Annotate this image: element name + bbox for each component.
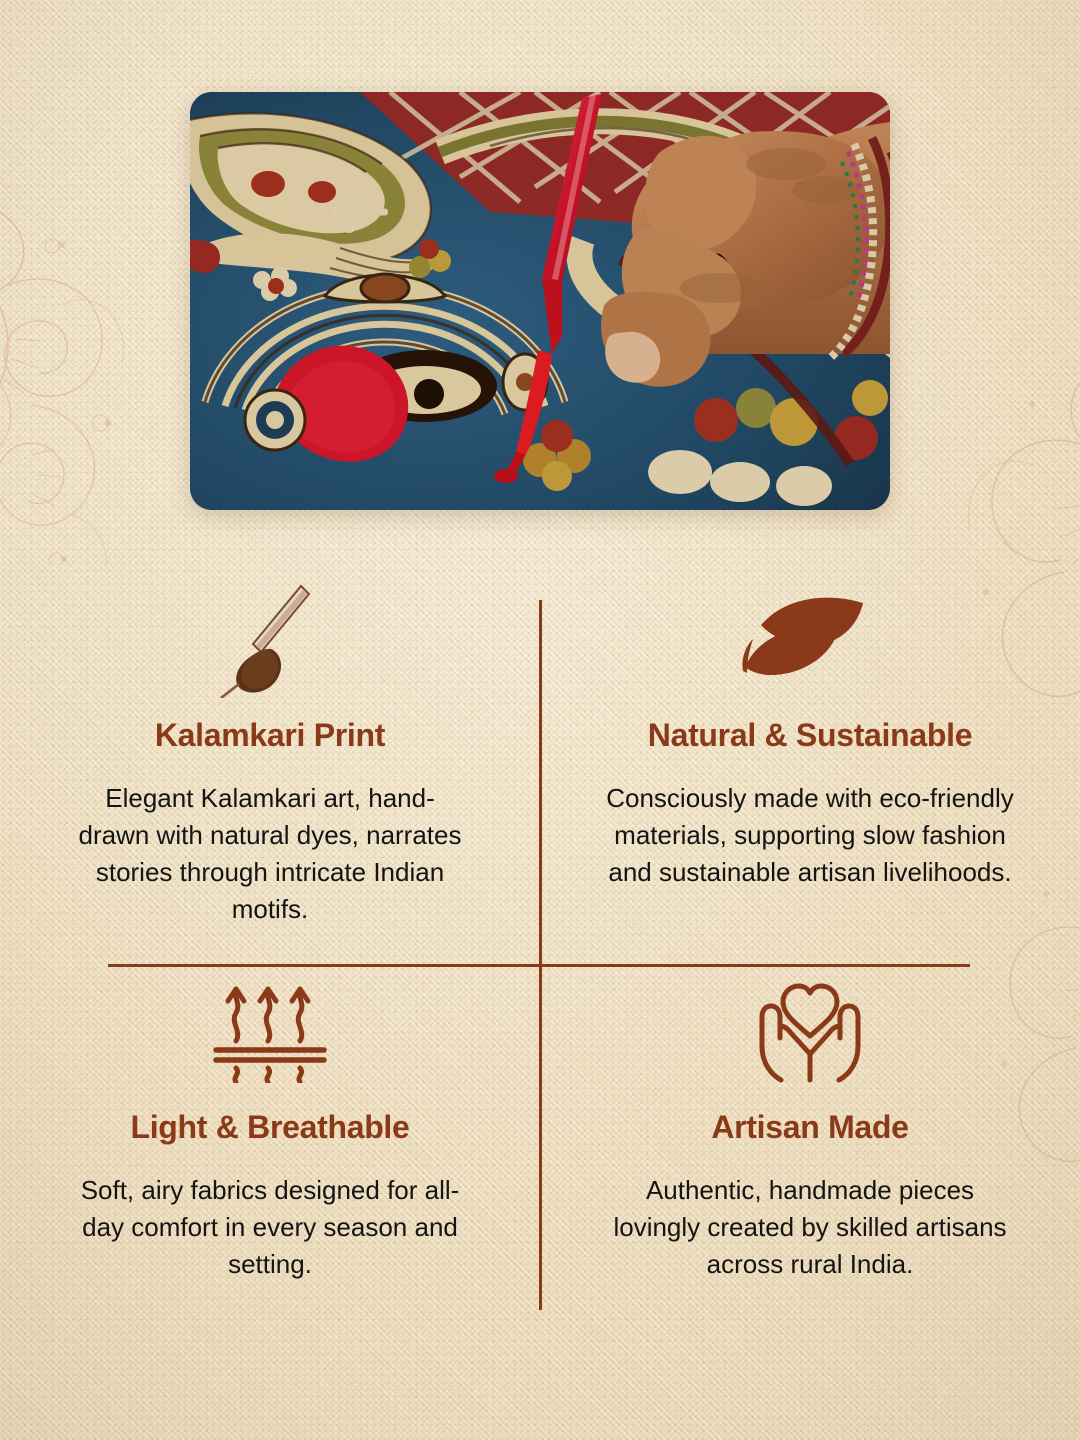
breathable-fabric-icon — [210, 975, 330, 1085]
kalamkari-artisan-photo — [190, 92, 890, 510]
feature-card-natural-sustainable: Natural & Sustainable Consciously made w… — [540, 575, 1080, 965]
leaf-icon — [735, 579, 885, 699]
feature-title: Artisan Made — [711, 1109, 908, 1146]
feature-card-artisan-made: Artisan Made Authentic, handmade pieces … — [540, 965, 1080, 1335]
feature-card-kalamkari-print: Kalamkari Print Elegant Kalamkari art, h… — [0, 575, 540, 965]
feature-body: Soft, airy fabrics designed for all-day … — [74, 1172, 466, 1283]
kalam-pen-icon — [215, 579, 325, 699]
feature-title: Kalamkari Print — [155, 717, 385, 754]
feature-title: Natural & Sustainable — [648, 717, 972, 754]
feature-title: Light & Breathable — [130, 1109, 409, 1146]
hands-heart-icon — [751, 975, 869, 1085]
feature-body: Elegant Kalamkari art, hand-drawn with n… — [74, 780, 466, 928]
feature-body: Authentic, handmade pieces lovingly crea… — [606, 1172, 1014, 1283]
feature-card-light-breathable: Light & Breathable Soft, airy fabrics de… — [0, 965, 540, 1335]
hero-image-container — [190, 92, 890, 510]
features-grid: Kalamkari Print Elegant Kalamkari art, h… — [0, 575, 1080, 1335]
feature-body: Consciously made with eco-friendly mater… — [606, 780, 1014, 891]
